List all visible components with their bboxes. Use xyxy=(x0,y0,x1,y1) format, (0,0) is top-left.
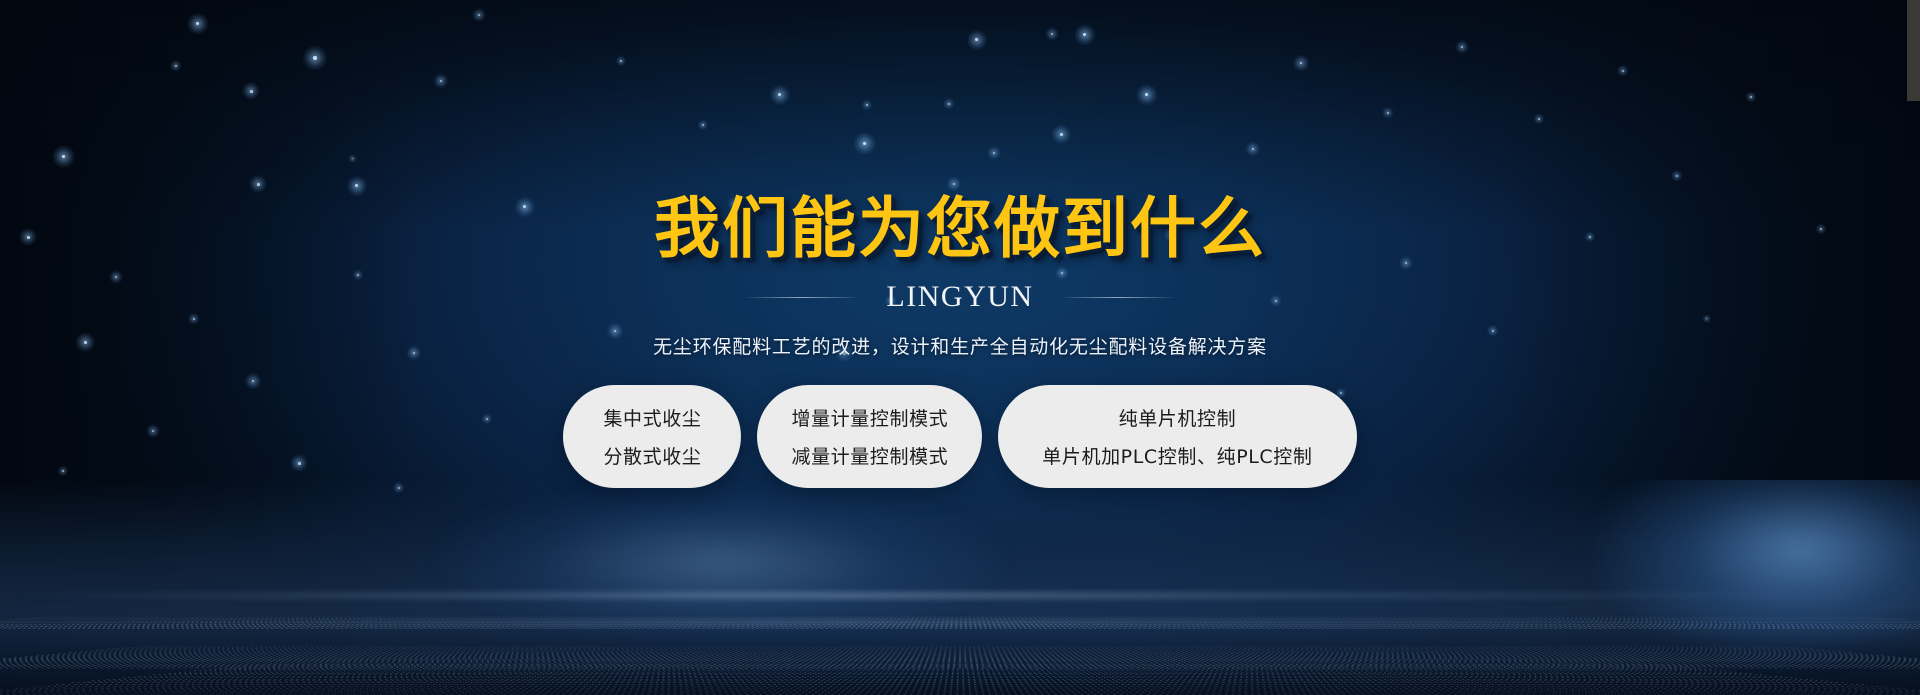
feature-pill-dust-collection[interactable]: 集中式收尘 分散式收尘 xyxy=(563,385,741,488)
pill-line-primary: 纯单片机控制 xyxy=(1119,404,1237,431)
feature-pill-group: 集中式收尘 分散式收尘 增量计量控制模式 减量计量控制模式 纯单片机控制 单片机… xyxy=(563,385,1356,488)
banner-content: 我们能为您做到什么 LINGYUN 无尘环保配料工艺的改进，设计和生产全自动化无… xyxy=(0,0,1920,695)
brand-name: LINGYUN xyxy=(886,280,1033,314)
page-title: 我们能为您做到什么 xyxy=(654,196,1266,262)
brand-row: LINGYUN xyxy=(746,280,1173,314)
pill-line-primary: 增量计量控制模式 xyxy=(791,404,948,431)
feature-pill-weighing-mode[interactable]: 增量计量控制模式 减量计量控制模式 xyxy=(757,385,982,488)
brand-rule-right xyxy=(1062,297,1174,298)
pill-line-primary: 集中式收尘 xyxy=(603,404,701,431)
pill-line-secondary: 分散式收尘 xyxy=(603,442,701,469)
page-scrollbar-thumb[interactable] xyxy=(1907,0,1920,101)
pill-line-secondary: 单片机加PLC控制、纯PLC控制 xyxy=(1042,442,1312,469)
brand-rule-left xyxy=(746,297,858,298)
page-scrollbar[interactable] xyxy=(1907,0,1920,695)
hero-banner: 我们能为您做到什么 LINGYUN 无尘环保配料工艺的改进，设计和生产全自动化无… xyxy=(0,0,1920,695)
feature-pill-control-system[interactable]: 纯单片机控制 单片机加PLC控制、纯PLC控制 xyxy=(998,385,1356,488)
pill-line-secondary: 减量计量控制模式 xyxy=(791,442,948,469)
page-subtitle: 无尘环保配料工艺的改进，设计和生产全自动化无尘配料设备解决方案 xyxy=(653,332,1267,359)
